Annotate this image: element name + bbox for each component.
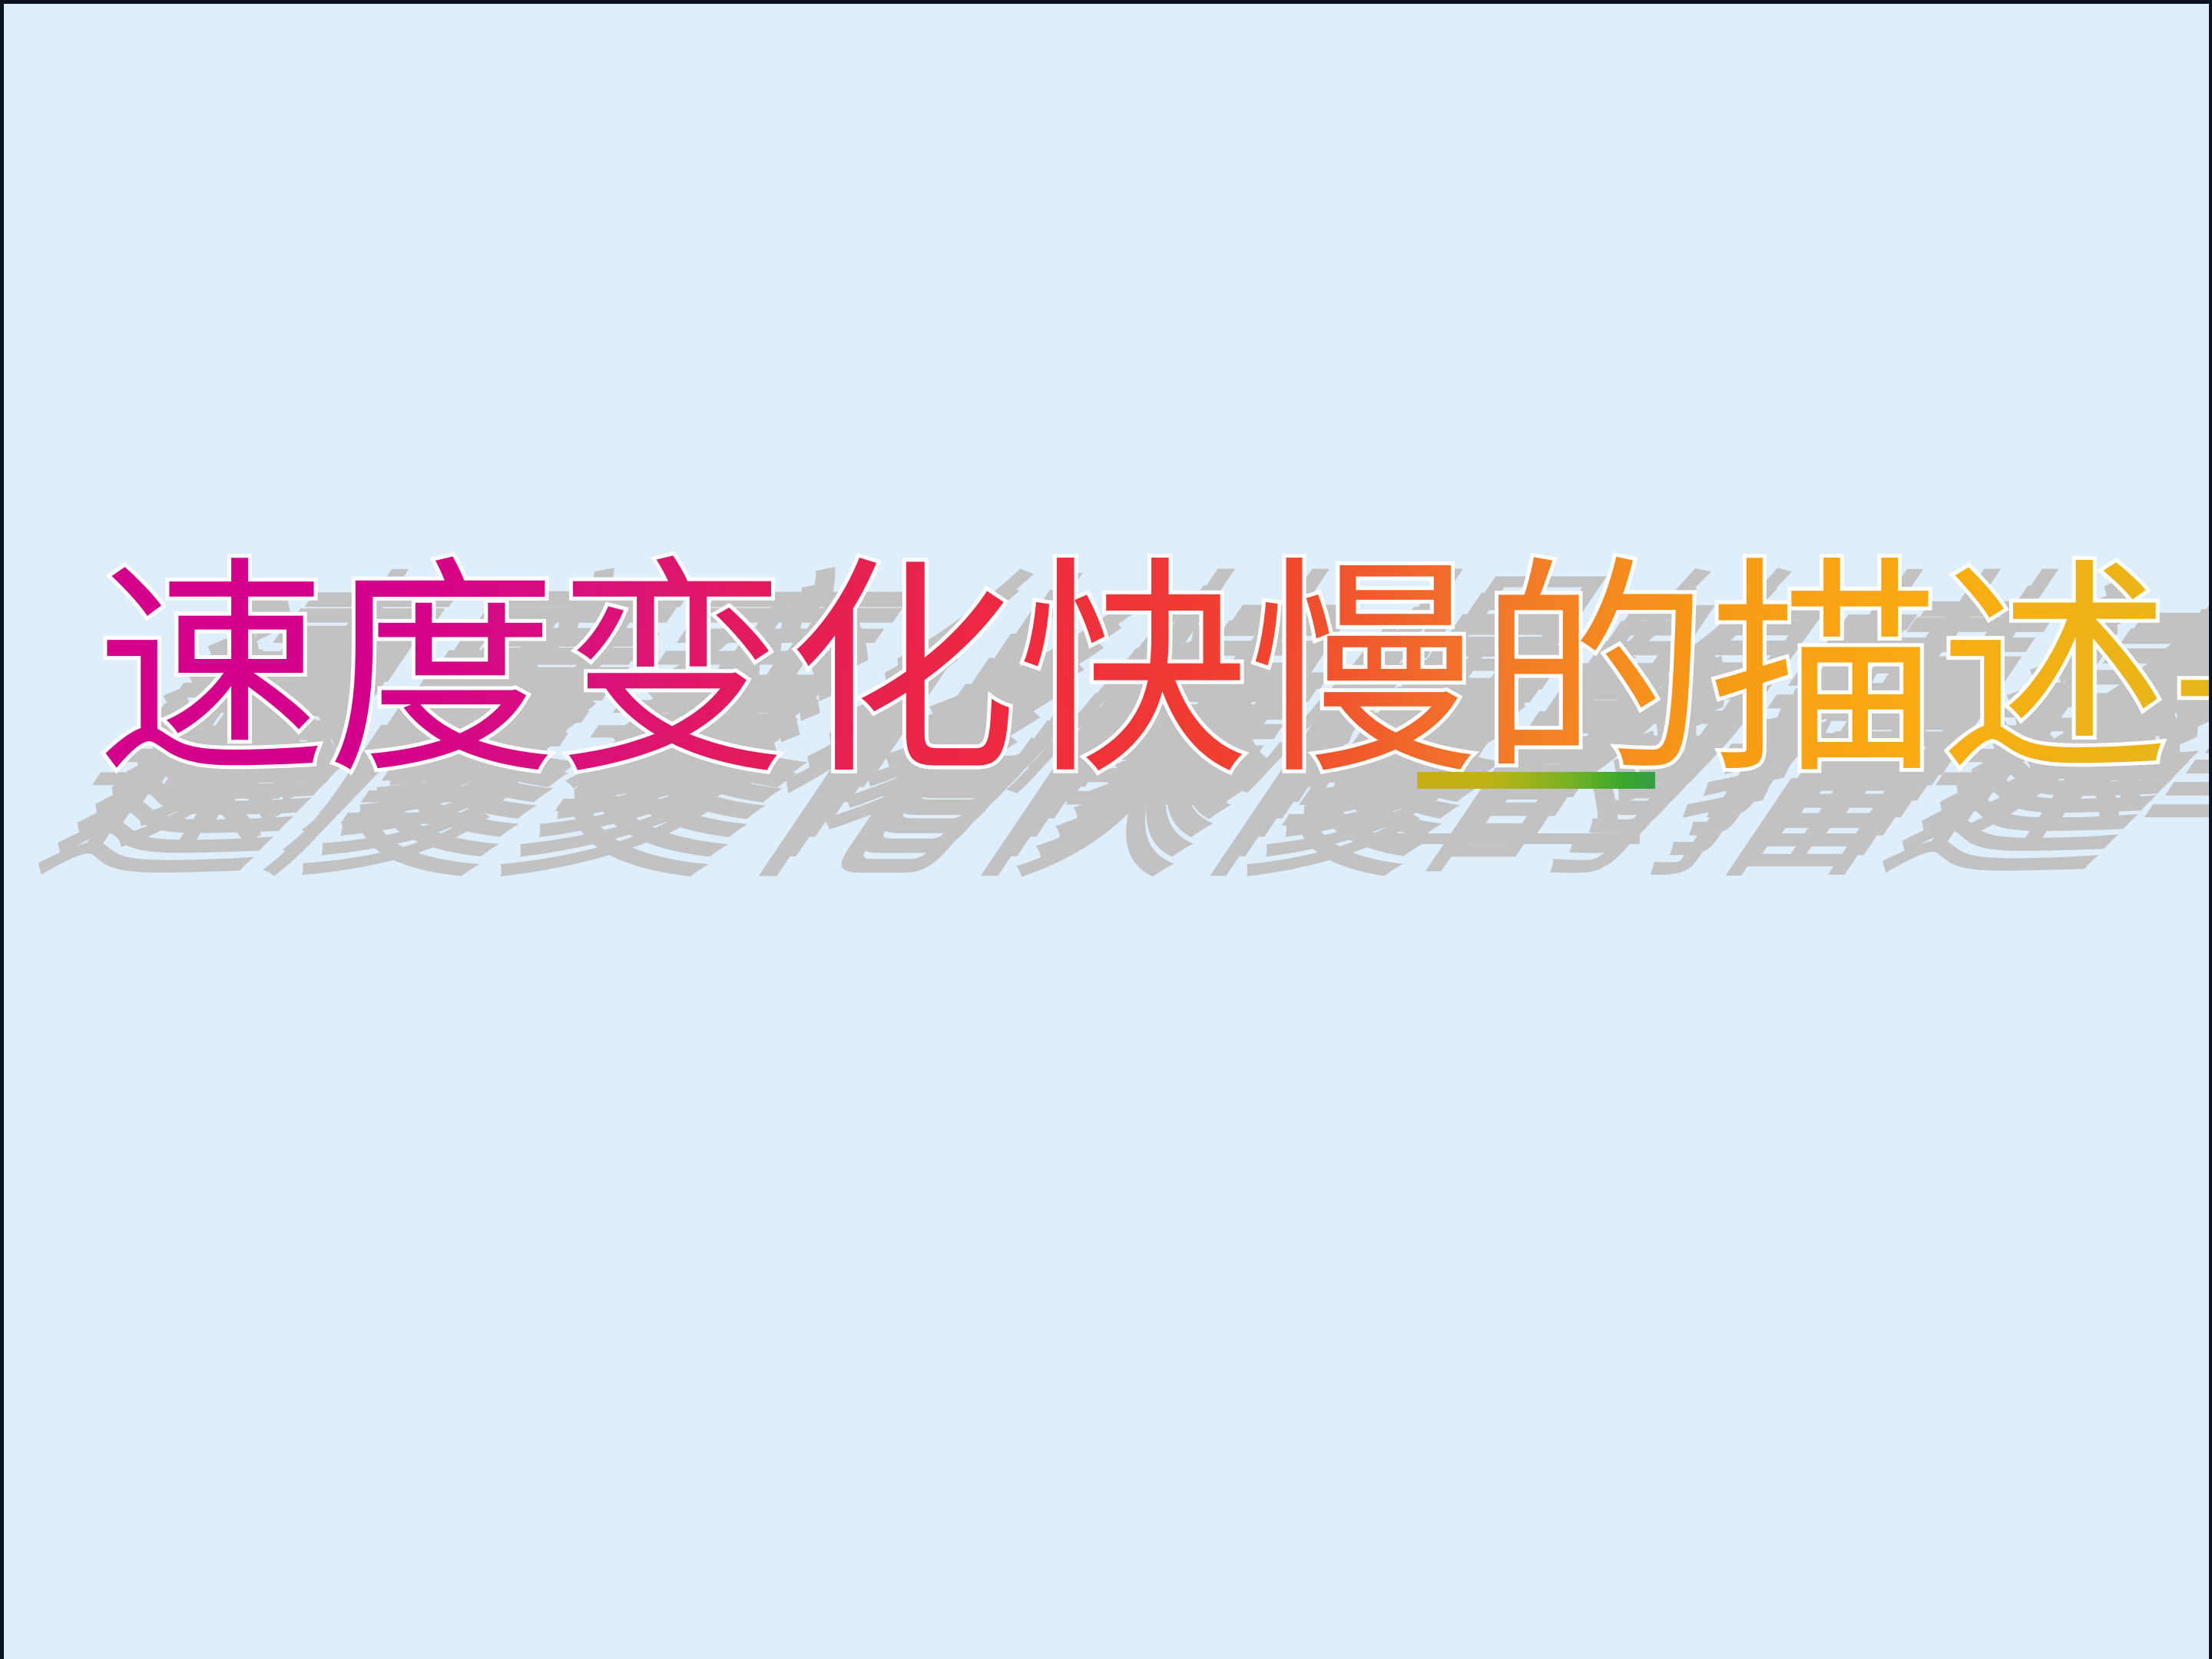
title-face-layer: 速度变化快慢的描述——加速度 xyxy=(4,534,2212,887)
slide-canvas: 速度变化快慢的描述——加速度 速度变化快慢的描述——加速度 速度变化快慢的描述—… xyxy=(0,0,2212,1659)
em-dash-connector: —— xyxy=(1417,772,1655,789)
em-dash-bar xyxy=(1417,772,1655,789)
page-title: 速度变化快慢的描述——加速度 xyxy=(96,534,2212,810)
wordart-title: 速度变化快慢的描述——加速度 速度变化快慢的描述——加速度 速度变化快慢的描述—… xyxy=(4,534,2212,887)
